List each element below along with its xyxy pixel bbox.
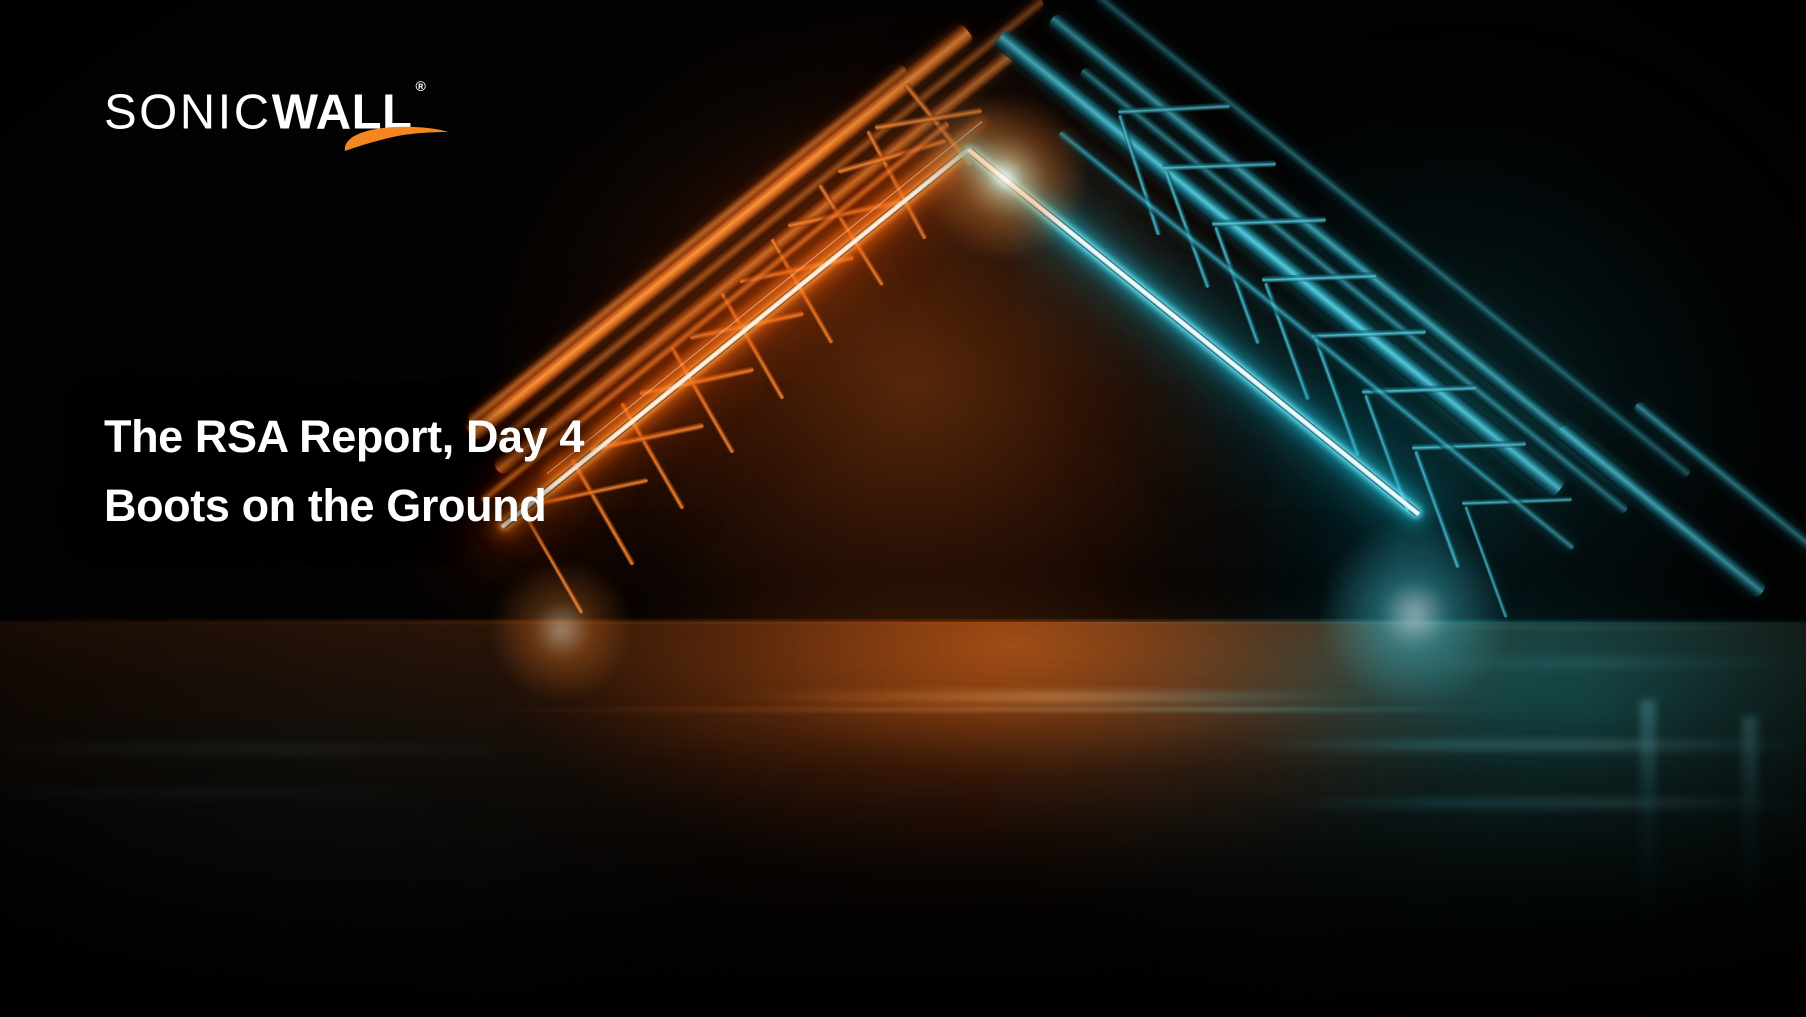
logo-sonic-text: SONIC bbox=[104, 85, 272, 139]
content-layer: SONICWALL® The RSA Report, Day 4 Boots o… bbox=[0, 0, 1806, 1017]
sonicwall-logo[interactable]: SONICWALL® bbox=[104, 80, 423, 138]
headline-line-1: The RSA Report, Day 4 bbox=[104, 402, 584, 471]
headline-line-2: Boots on the Ground bbox=[104, 471, 584, 540]
page-title: The RSA Report, Day 4 Boots on the Groun… bbox=[104, 402, 584, 540]
logo-wall-text: WALL bbox=[272, 85, 413, 139]
registered-trademark-icon: ® bbox=[415, 78, 425, 94]
hero-banner: SONICWALL® The RSA Report, Day 4 Boots o… bbox=[0, 0, 1806, 1017]
logo-wordmark: SONICWALL® bbox=[104, 80, 423, 138]
